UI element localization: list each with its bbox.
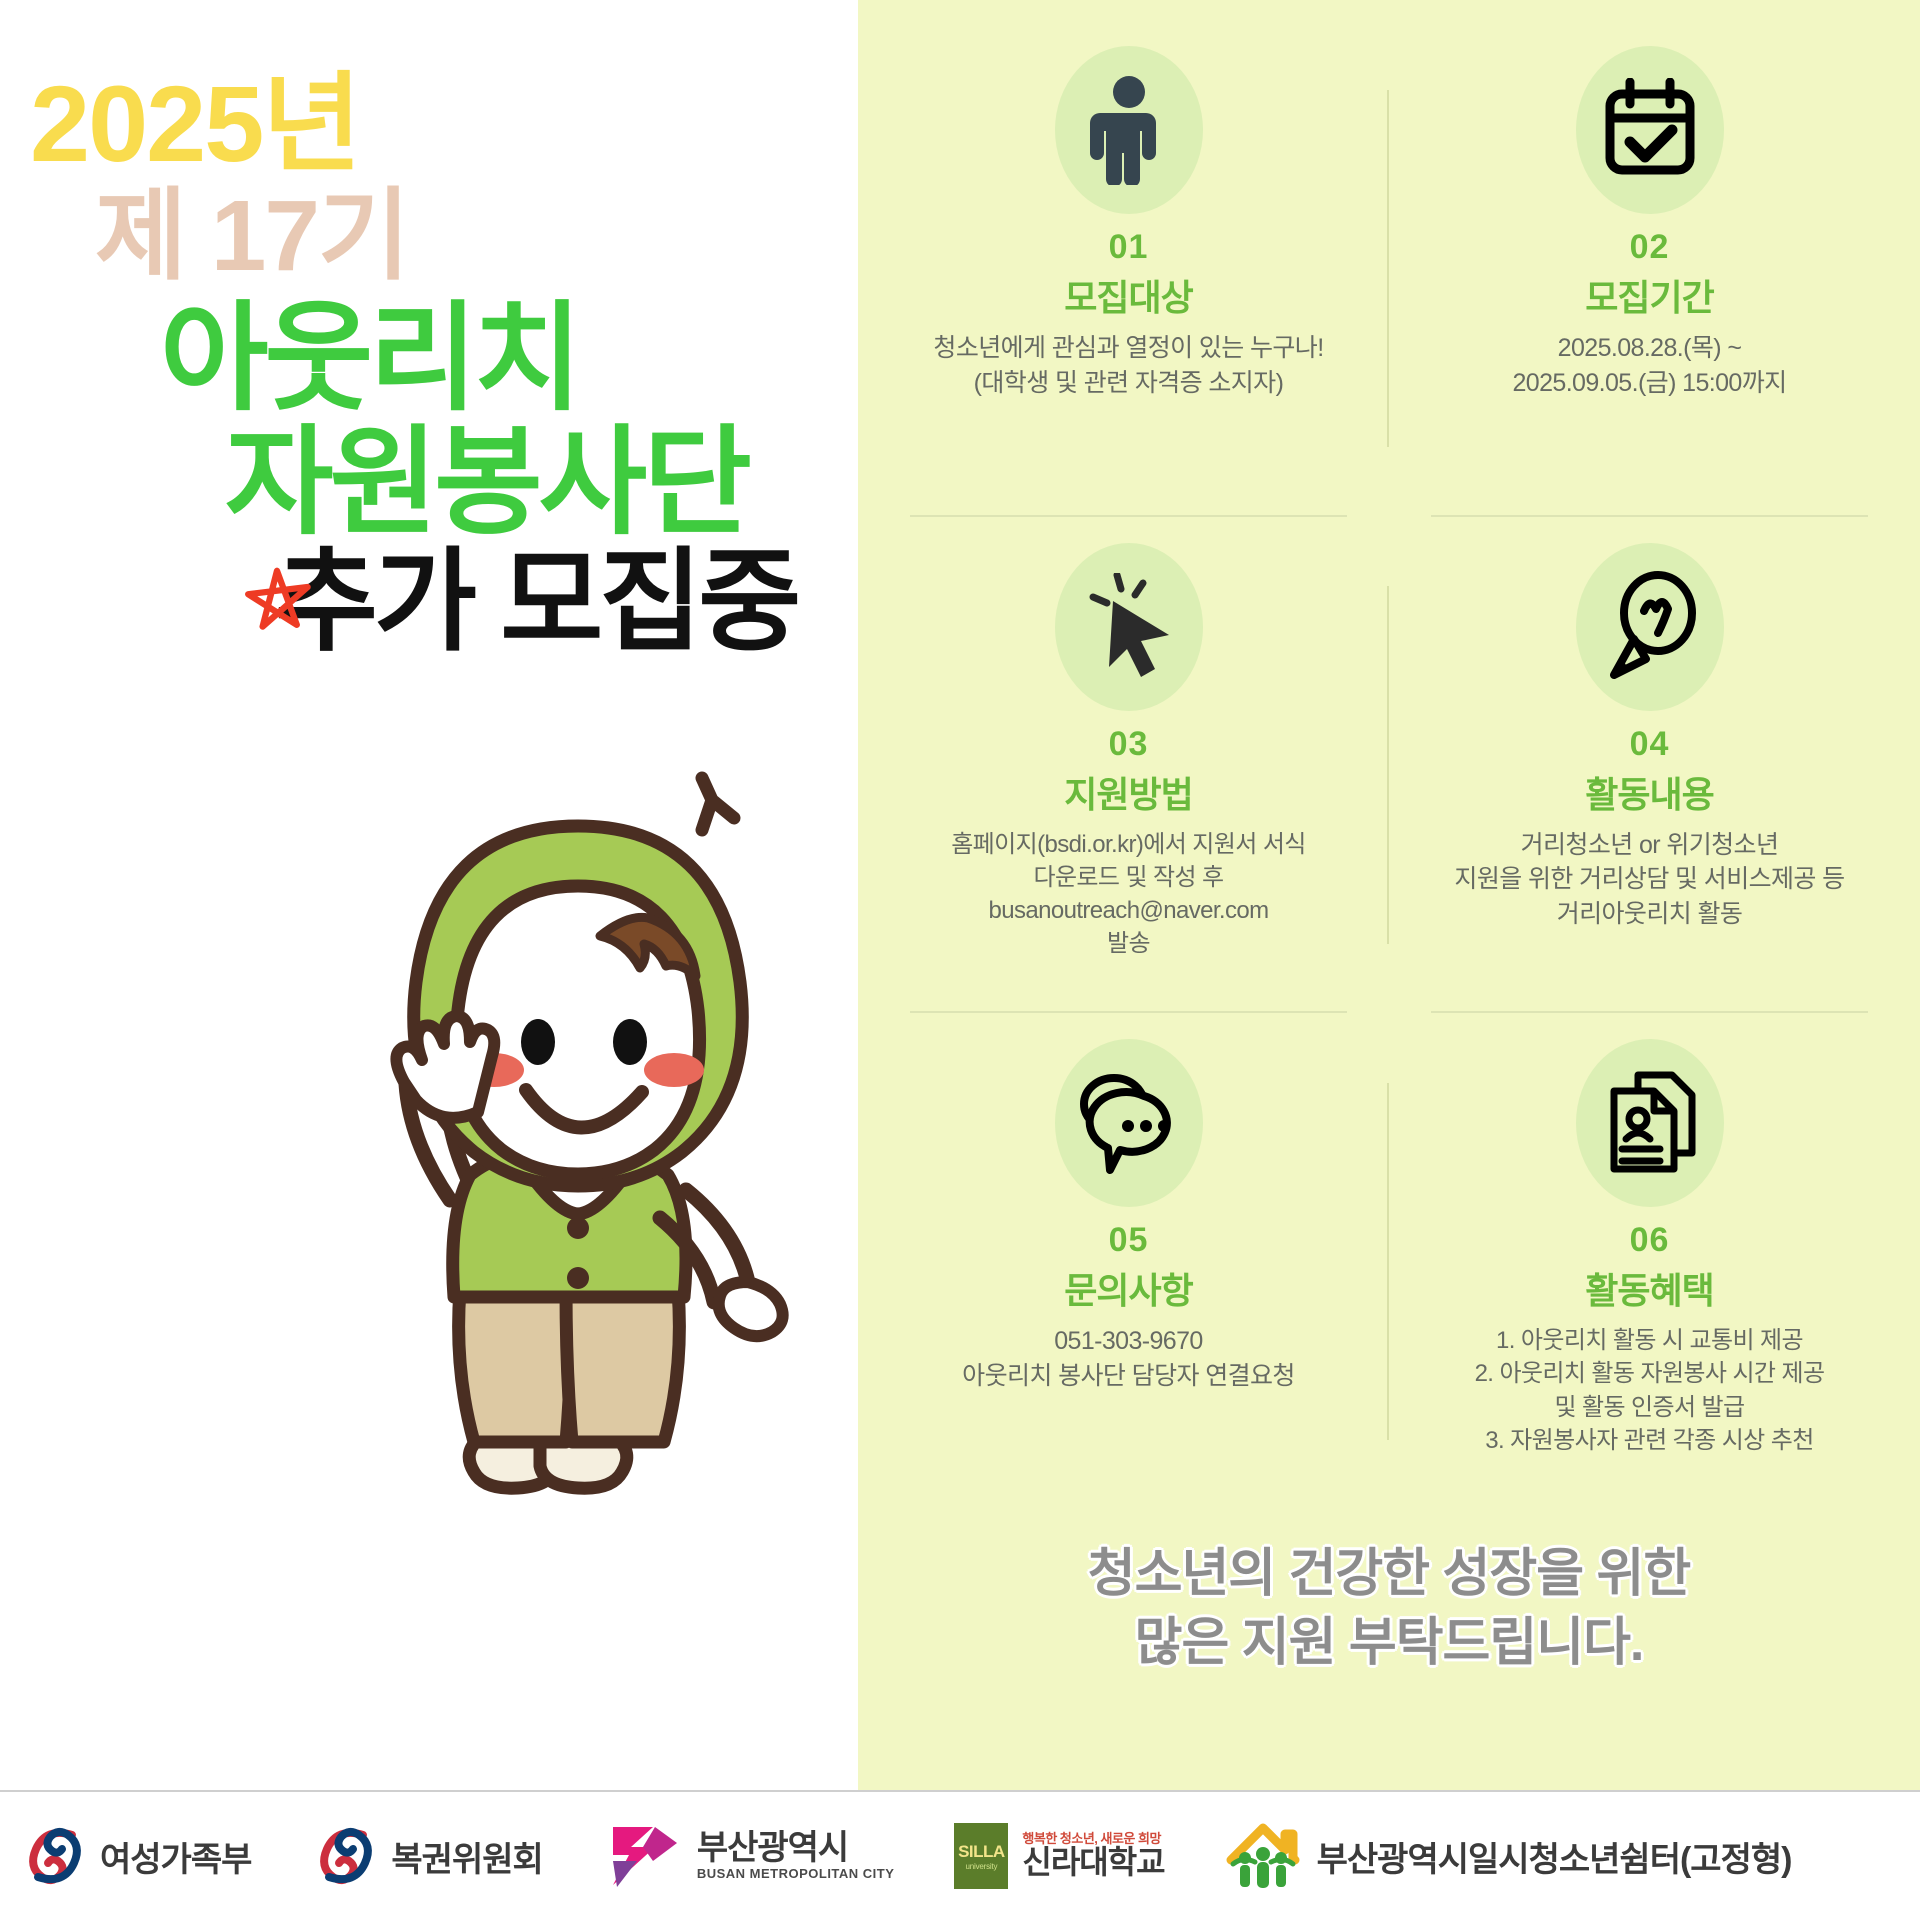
title-program-2: 자원봉사단 <box>0 424 858 542</box>
logo-label: 부산광역시 <box>697 1831 895 1867</box>
silla-badge-icon: SILLA university <box>954 1823 1008 1889</box>
closing-slogan: 청소년의 건강한 성장을 위한 많은 지원 부탁드립니다. <box>858 1540 1920 1677</box>
silla-badge-top: SILLA <box>958 1842 1005 1862</box>
slogan-line-1: 청소년의 건강한 성장을 위한 <box>858 1540 1920 1609</box>
card-title: 모집기간 <box>1585 269 1713 321</box>
cursor-click-icon <box>1055 543 1203 711</box>
card-body: 거리청소년 or 위기청소년 지원을 위한 거리상담 및 서비스제공 등 거리아… <box>1454 828 1844 932</box>
person-icon-glyph <box>1088 75 1170 185</box>
logo-label-stack: 행복한 청소년, 새로운 희망 신라대학교 <box>1022 1832 1164 1879</box>
card-title: 지원방법 <box>1064 766 1192 818</box>
card-number: 05 <box>1109 1221 1149 1260</box>
card-title: 활동내용 <box>1585 766 1713 818</box>
logo-sublabel: BUSAN METROPOLITAN CITY <box>697 1867 895 1881</box>
card-number: 02 <box>1630 228 1670 267</box>
title-program-1: 아웃리치 <box>0 300 858 418</box>
card-body: 2025.08.28.(목) ~ 2025.09.05.(금) 15:00까지 <box>1512 331 1786 400</box>
document-person-icon-glyph <box>1598 1069 1702 1177</box>
person-icon <box>1055 46 1203 214</box>
logo-busan-city: 부산광역시 BUSAN METROPOLITAN CITY <box>607 1821 895 1891</box>
info-card-06: 06 활동혜택 1. 아웃리치 활동 시 교통비 제공 2. 아웃리치 활동 자… <box>1389 1013 1910 1510</box>
lightbulb-pencil-icon <box>1576 543 1724 711</box>
cursor-click-icon-glyph <box>1077 573 1181 681</box>
house-people-icon <box>1223 1820 1303 1892</box>
card-number: 03 <box>1109 725 1149 764</box>
logo-label: 부산광역시일시청소년쉼터(고정형) <box>1317 1832 1792 1881</box>
card-body: 홈페이지(bsdi.or.kr)에서 지원서 서식 다운로드 및 작성 후 bu… <box>951 828 1306 960</box>
busan-mark-icon <box>607 1821 683 1891</box>
title-year: 2025년 <box>0 70 858 178</box>
info-card-03: 03 지원방법 홈페이지(bsdi.or.kr)에서 지원서 서식 다운로드 및… <box>868 517 1389 1014</box>
logo-label: 여성가족부 <box>100 1832 251 1881</box>
lightbulb-pencil-icon-glyph <box>1600 571 1700 683</box>
card-title: 활동혜택 <box>1585 1262 1713 1314</box>
silla-badge-bottom: university <box>966 1862 998 1871</box>
document-person-icon <box>1576 1039 1724 1207</box>
card-body: 051-303-9670 아웃리치 봉사단 담당자 연결요청 <box>962 1324 1295 1393</box>
slogan-line-2: 많은 지원 부탁드립니다. <box>858 1609 1920 1678</box>
logo-silla-university: SILLA university 행복한 청소년, 새로운 희망 신라대학교 <box>954 1823 1164 1889</box>
left-panel: 2025년 제 17기 아웃리치 자원봉사단 추가 모집중 <box>0 0 858 1790</box>
card-number: 04 <box>1630 725 1670 764</box>
calendar-check-icon <box>1576 46 1724 214</box>
info-card-01: 01 모집대상 청소년에게 관심과 열정이 있는 누구나! (대학생 및 관련 … <box>868 20 1389 517</box>
right-panel: 01 모집대상 청소년에게 관심과 열정이 있는 누구나! (대학생 및 관련 … <box>858 0 1920 1790</box>
card-body: 1. 아웃리치 활동 시 교통비 제공 2. 아웃리치 활동 자원봉사 시간 제… <box>1475 1324 1825 1456</box>
title-block: 2025년 제 17기 아웃리치 자원봉사단 추가 모집중 <box>0 70 858 658</box>
logo-label: 복권위원회 <box>391 1832 542 1881</box>
poster-root: 2025년 제 17기 아웃리치 자원봉사단 추가 모집중 <box>0 0 1920 1920</box>
card-number: 06 <box>1630 1221 1670 1260</box>
taegeuk-icon <box>24 1825 86 1887</box>
logo-mogef: 여성가족부 <box>24 1825 251 1887</box>
info-card-05: 05 문의사항 051-303-9670 아웃리치 봉사단 담당자 연결요청 <box>868 1013 1389 1510</box>
card-title: 문의사항 <box>1064 1262 1192 1314</box>
logo-label: 신라대학교 <box>1022 1846 1164 1880</box>
logo-busan-youth-shelter: 부산광역시일시청소년쉼터(고정형) <box>1223 1820 1792 1892</box>
waving-child-mascot <box>330 770 850 1510</box>
logo-label-stack: 부산광역시 BUSAN METROPOLITAN CITY <box>697 1831 895 1880</box>
footer-logo-bar: 여성가족부 복권위원회 부산광역시 BUSAN METROPOLITAN CIT… <box>0 1790 1920 1920</box>
title-generation: 제 17기 <box>0 186 858 286</box>
card-title: 모집대상 <box>1064 269 1192 321</box>
chat-bubbles-icon-glyph <box>1074 1070 1184 1176</box>
title-status: 추가 모집중 <box>0 546 858 658</box>
calendar-check-icon-glyph <box>1598 78 1702 182</box>
info-card-04: 04 활동내용 거리청소년 or 위기청소년 지원을 위한 거리상담 및 서비스… <box>1389 517 1910 1014</box>
info-card-02: 02 모집기간 2025.08.28.(목) ~ 2025.09.05.(금) … <box>1389 20 1910 517</box>
taegeuk-icon <box>315 1825 377 1887</box>
logo-lottery-commission: 복권위원회 <box>315 1825 542 1887</box>
chat-bubbles-icon <box>1055 1039 1203 1207</box>
info-cards-grid: 01 모집대상 청소년에게 관심과 열정이 있는 누구나! (대학생 및 관련 … <box>868 20 1910 1510</box>
card-number: 01 <box>1109 228 1149 267</box>
card-body: 청소년에게 관심과 열정이 있는 누구나! (대학생 및 관련 자격증 소지자) <box>933 331 1323 400</box>
